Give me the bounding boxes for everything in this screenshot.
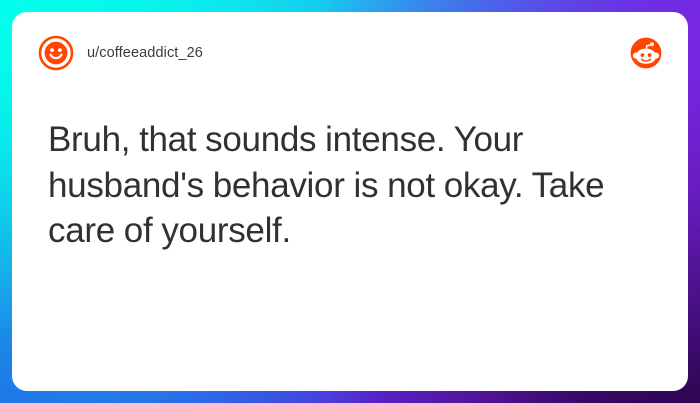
- card-header: u/coffeeaddict_26: [12, 12, 688, 72]
- user-identity-block[interactable]: u/coffeeaddict_26: [38, 35, 203, 71]
- smiley-face-avatar-icon[interactable]: [38, 35, 74, 71]
- reddit-comment-card: u/coffeeaddict_26: [12, 12, 688, 391]
- card-body: Bruh, that sounds intense. Your husband'…: [12, 72, 688, 391]
- username-label: u/coffeeaddict_26: [87, 45, 203, 61]
- reddit-snoo-logo-icon[interactable]: [630, 37, 662, 69]
- screenshot-root: u/coffeeaddict_26: [0, 0, 700, 403]
- post-text: Bruh, that sounds intense. Your husband'…: [48, 117, 648, 254]
